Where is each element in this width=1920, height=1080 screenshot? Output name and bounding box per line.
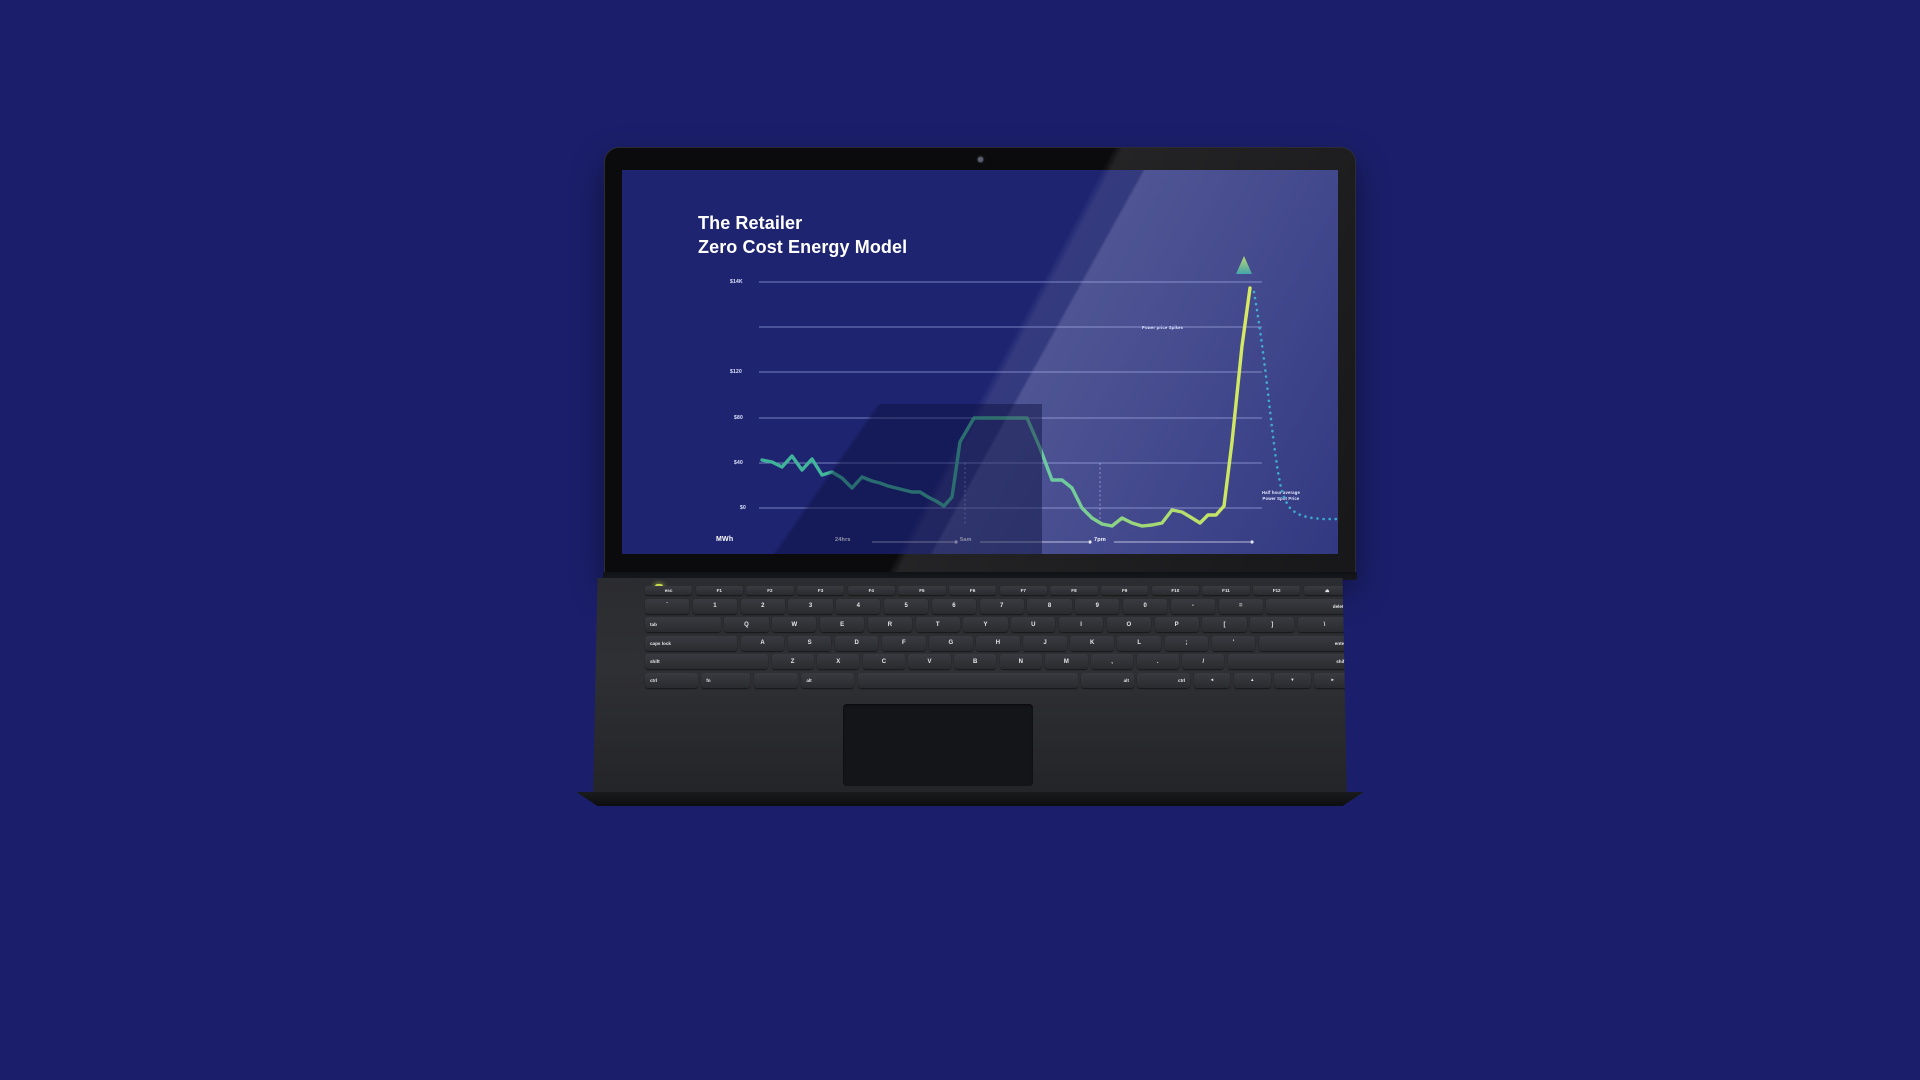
- keyboard[interactable]: esc F1 F2 F3 F4 F5 F6 F7 F8 F9 F10 F11 F…: [645, 586, 1351, 691]
- key-esc[interactable]: esc: [645, 586, 692, 595]
- key-e[interactable]: E: [820, 617, 864, 632]
- keyboard-row-modifiers: ctrl fn alt alt ctrl ◂ ▴ ▾ ▸: [645, 673, 1351, 688]
- key-shift-right[interactable]: shift: [1228, 654, 1351, 669]
- key-fn[interactable]: fn: [701, 673, 750, 688]
- screenshot-stage: The Retailer Zero Cost Energy Model: [0, 0, 1920, 1080]
- key-minus[interactable]: -: [1171, 599, 1215, 614]
- key-ctrl-right[interactable]: ctrl: [1137, 673, 1190, 688]
- key-f[interactable]: F: [882, 636, 926, 651]
- key-n[interactable]: N: [1000, 654, 1042, 669]
- key-caps-lock[interactable]: caps lock: [645, 636, 737, 651]
- key-t[interactable]: T: [916, 617, 960, 632]
- key-f9[interactable]: F9: [1101, 586, 1148, 595]
- laptop-base-top: esc F1 F2 F3 F4 F5 F6 F7 F8 F9 F10 F11 F…: [593, 578, 1347, 800]
- keyboard-row-bottom-letters: shift Z X C V B N M , . / shift: [645, 654, 1351, 669]
- keyboard-row-qwerty: tab Q W E R T Y U I O P [ ] \: [645, 617, 1351, 632]
- key-f5[interactable]: F5: [898, 586, 945, 595]
- key-f3[interactable]: F3: [797, 586, 844, 595]
- key-5[interactable]: 5: [884, 599, 928, 614]
- key-cmd-left[interactable]: [754, 673, 798, 688]
- key-m[interactable]: M: [1045, 654, 1087, 669]
- key-equals[interactable]: =: [1219, 599, 1263, 614]
- key-x[interactable]: X: [817, 654, 859, 669]
- key-slash[interactable]: /: [1182, 654, 1224, 669]
- key-ctrl-left[interactable]: ctrl: [645, 673, 698, 688]
- laptop-screen[interactable]: The Retailer Zero Cost Energy Model: [622, 170, 1338, 554]
- key-y[interactable]: Y: [963, 617, 1007, 632]
- key-q[interactable]: Q: [724, 617, 768, 632]
- key-semicolon[interactable]: ;: [1165, 636, 1209, 651]
- key-8[interactable]: 8: [1027, 599, 1071, 614]
- webcam-icon: [978, 157, 983, 162]
- key-alt-right[interactable]: alt: [1081, 673, 1134, 688]
- key-bracket-right[interactable]: ]: [1250, 617, 1294, 632]
- key-f2[interactable]: F2: [746, 586, 793, 595]
- slide-title: The Retailer Zero Cost Energy Model: [698, 212, 907, 260]
- key-9[interactable]: 9: [1075, 599, 1119, 614]
- key-l[interactable]: L: [1117, 636, 1161, 651]
- key-z[interactable]: Z: [772, 654, 814, 669]
- key-tab[interactable]: tab: [645, 617, 721, 632]
- slide-title-line2: Zero Cost Energy Model: [698, 236, 907, 260]
- key-2[interactable]: 2: [741, 599, 785, 614]
- peak-marker-icon: [1236, 256, 1252, 274]
- laptop-base: esc F1 F2 F3 F4 F5 F6 F7 F8 F9 F10 F11 F…: [565, 578, 1375, 810]
- laptop-mockup: The Retailer Zero Cost Energy Model: [565, 148, 1375, 878]
- key-alt-left[interactable]: alt: [801, 673, 854, 688]
- key-1[interactable]: 1: [693, 599, 737, 614]
- key-p[interactable]: P: [1155, 617, 1199, 632]
- spike-decay-dotted-line: [1254, 292, 1338, 520]
- keyboard-row-function: esc F1 F2 F3 F4 F5 F6 F7 F8 F9 F10 F11 F…: [645, 586, 1351, 595]
- key-bracket-left[interactable]: [: [1202, 617, 1246, 632]
- key-0[interactable]: 0: [1123, 599, 1167, 614]
- laptop-bezel-top: [605, 148, 1355, 170]
- key-v[interactable]: V: [908, 654, 950, 669]
- key-f4[interactable]: F4: [848, 586, 895, 595]
- slide-title-line1: The Retailer: [698, 212, 907, 236]
- laptop-base-front-edge: [565, 792, 1375, 806]
- key-f12[interactable]: F12: [1253, 586, 1300, 595]
- key-b[interactable]: B: [954, 654, 996, 669]
- key-s[interactable]: S: [788, 636, 832, 651]
- key-4[interactable]: 4: [836, 599, 880, 614]
- key-d[interactable]: D: [835, 636, 879, 651]
- key-f11[interactable]: F11: [1202, 586, 1249, 595]
- key-6[interactable]: 6: [932, 599, 976, 614]
- key-j[interactable]: J: [1023, 636, 1067, 651]
- keyboard-row-numbers: ` 1 2 3 4 5 6 7 8 9 0 - = delete: [645, 599, 1351, 614]
- key-k[interactable]: K: [1070, 636, 1114, 651]
- key-arrow-up-icon[interactable]: ▴: [1234, 673, 1271, 688]
- key-g[interactable]: G: [929, 636, 973, 651]
- key-i[interactable]: I: [1059, 617, 1103, 632]
- key-f6[interactable]: F6: [949, 586, 996, 595]
- key-f8[interactable]: F8: [1050, 586, 1097, 595]
- key-shift-left[interactable]: shift: [645, 654, 768, 669]
- key-f7[interactable]: F7: [1000, 586, 1047, 595]
- key-h[interactable]: H: [976, 636, 1020, 651]
- key-f1[interactable]: F1: [696, 586, 743, 595]
- key-3[interactable]: 3: [788, 599, 832, 614]
- key-u[interactable]: U: [1011, 617, 1055, 632]
- key-quote[interactable]: ': [1212, 636, 1256, 651]
- key-comma[interactable]: ,: [1091, 654, 1133, 669]
- key-arrow-right-icon[interactable]: ▸: [1314, 673, 1351, 688]
- key-c[interactable]: C: [863, 654, 905, 669]
- key-space[interactable]: [858, 673, 1078, 688]
- key-f10[interactable]: F10: [1152, 586, 1199, 595]
- key-o[interactable]: O: [1107, 617, 1151, 632]
- key-backtick[interactable]: `: [645, 599, 689, 614]
- keyboard-row-home: caps lock A S D F G H J K L ; ' enter: [645, 636, 1351, 651]
- key-a[interactable]: A: [741, 636, 785, 651]
- key-eject-icon[interactable]: ⏏: [1304, 586, 1351, 595]
- key-arrow-down-icon[interactable]: ▾: [1274, 673, 1311, 688]
- trackpad[interactable]: [843, 704, 1033, 786]
- key-backslash[interactable]: \: [1298, 617, 1351, 632]
- key-enter[interactable]: enter: [1259, 636, 1351, 651]
- price-spot-line: [762, 288, 1250, 526]
- key-arrow-left-icon[interactable]: ◂: [1194, 673, 1231, 688]
- key-r[interactable]: R: [868, 617, 912, 632]
- chart-xaxis-arrows: [872, 540, 1254, 543]
- key-w[interactable]: W: [772, 617, 816, 632]
- key-delete[interactable]: delete: [1266, 599, 1351, 614]
- key-period[interactable]: .: [1137, 654, 1179, 669]
- laptop-lid: The Retailer Zero Cost Energy Model: [605, 148, 1355, 576]
- chart-time-dividers: [965, 463, 1100, 525]
- key-7[interactable]: 7: [980, 599, 1024, 614]
